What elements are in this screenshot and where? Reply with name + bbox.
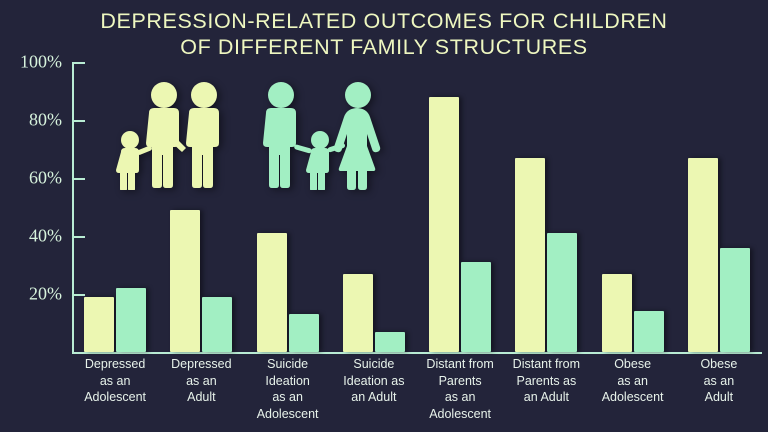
chart-root: DEPRESSION-RELATED OUTCOMES FOR CHILDREN…	[0, 0, 768, 432]
y-axis-tick-label: 20%	[29, 284, 62, 305]
bar	[84, 297, 114, 352]
y-axis-tick-label: 60%	[29, 168, 62, 189]
y-axis-tick-label: 100%	[20, 52, 62, 73]
bar	[461, 262, 491, 352]
chart-title: DEPRESSION-RELATED OUTCOMES FOR CHILDREN…	[0, 8, 768, 60]
bar	[343, 274, 373, 352]
bar	[429, 97, 459, 352]
legend-item-opposite-sex-parents	[259, 78, 381, 190]
bar	[602, 274, 632, 352]
x-axis-category-label: Depressed as an Adult	[158, 356, 244, 406]
x-axis-category-label: Distant from Parents as an Adult	[503, 356, 589, 406]
x-axis-category-label: Depressed as an Adolescent	[72, 356, 158, 406]
legend-item-same-sex-parents	[112, 78, 230, 190]
bar	[116, 288, 146, 352]
bar	[289, 314, 319, 352]
x-axis-category-label: Suicide Ideation as an Adult	[331, 356, 417, 406]
bar	[170, 210, 200, 352]
x-axis-category-label: Obese as an Adult	[676, 356, 762, 406]
family-two-fathers-child-icon	[112, 78, 230, 190]
chart-title-line-2: OF DIFFERENT FAMILY STRUCTURES	[0, 34, 768, 60]
x-axis-category-label: Suicide Ideation as an Adolescent	[245, 356, 331, 422]
bar	[257, 233, 287, 352]
bar	[634, 311, 664, 352]
bar	[688, 158, 718, 352]
chart-title-line-1: DEPRESSION-RELATED OUTCOMES FOR CHILDREN	[0, 8, 768, 34]
y-axis-tick-label: 80%	[29, 110, 62, 131]
x-axis-category-label: Obese as an Adolescent	[590, 356, 676, 406]
bar	[202, 297, 232, 352]
bar	[375, 332, 405, 352]
x-axis-category-label: Distant from Parents as an Adolescent	[417, 356, 503, 422]
x-axis-line	[72, 352, 762, 354]
bar	[547, 233, 577, 352]
chart-legend	[112, 78, 412, 193]
x-axis-labels: Depressed as an AdolescentDepressed as a…	[72, 356, 762, 432]
family-mother-father-child-icon	[259, 78, 381, 190]
bar	[720, 248, 750, 352]
y-axis-tick-label: 40%	[29, 226, 62, 247]
bar	[515, 158, 545, 352]
